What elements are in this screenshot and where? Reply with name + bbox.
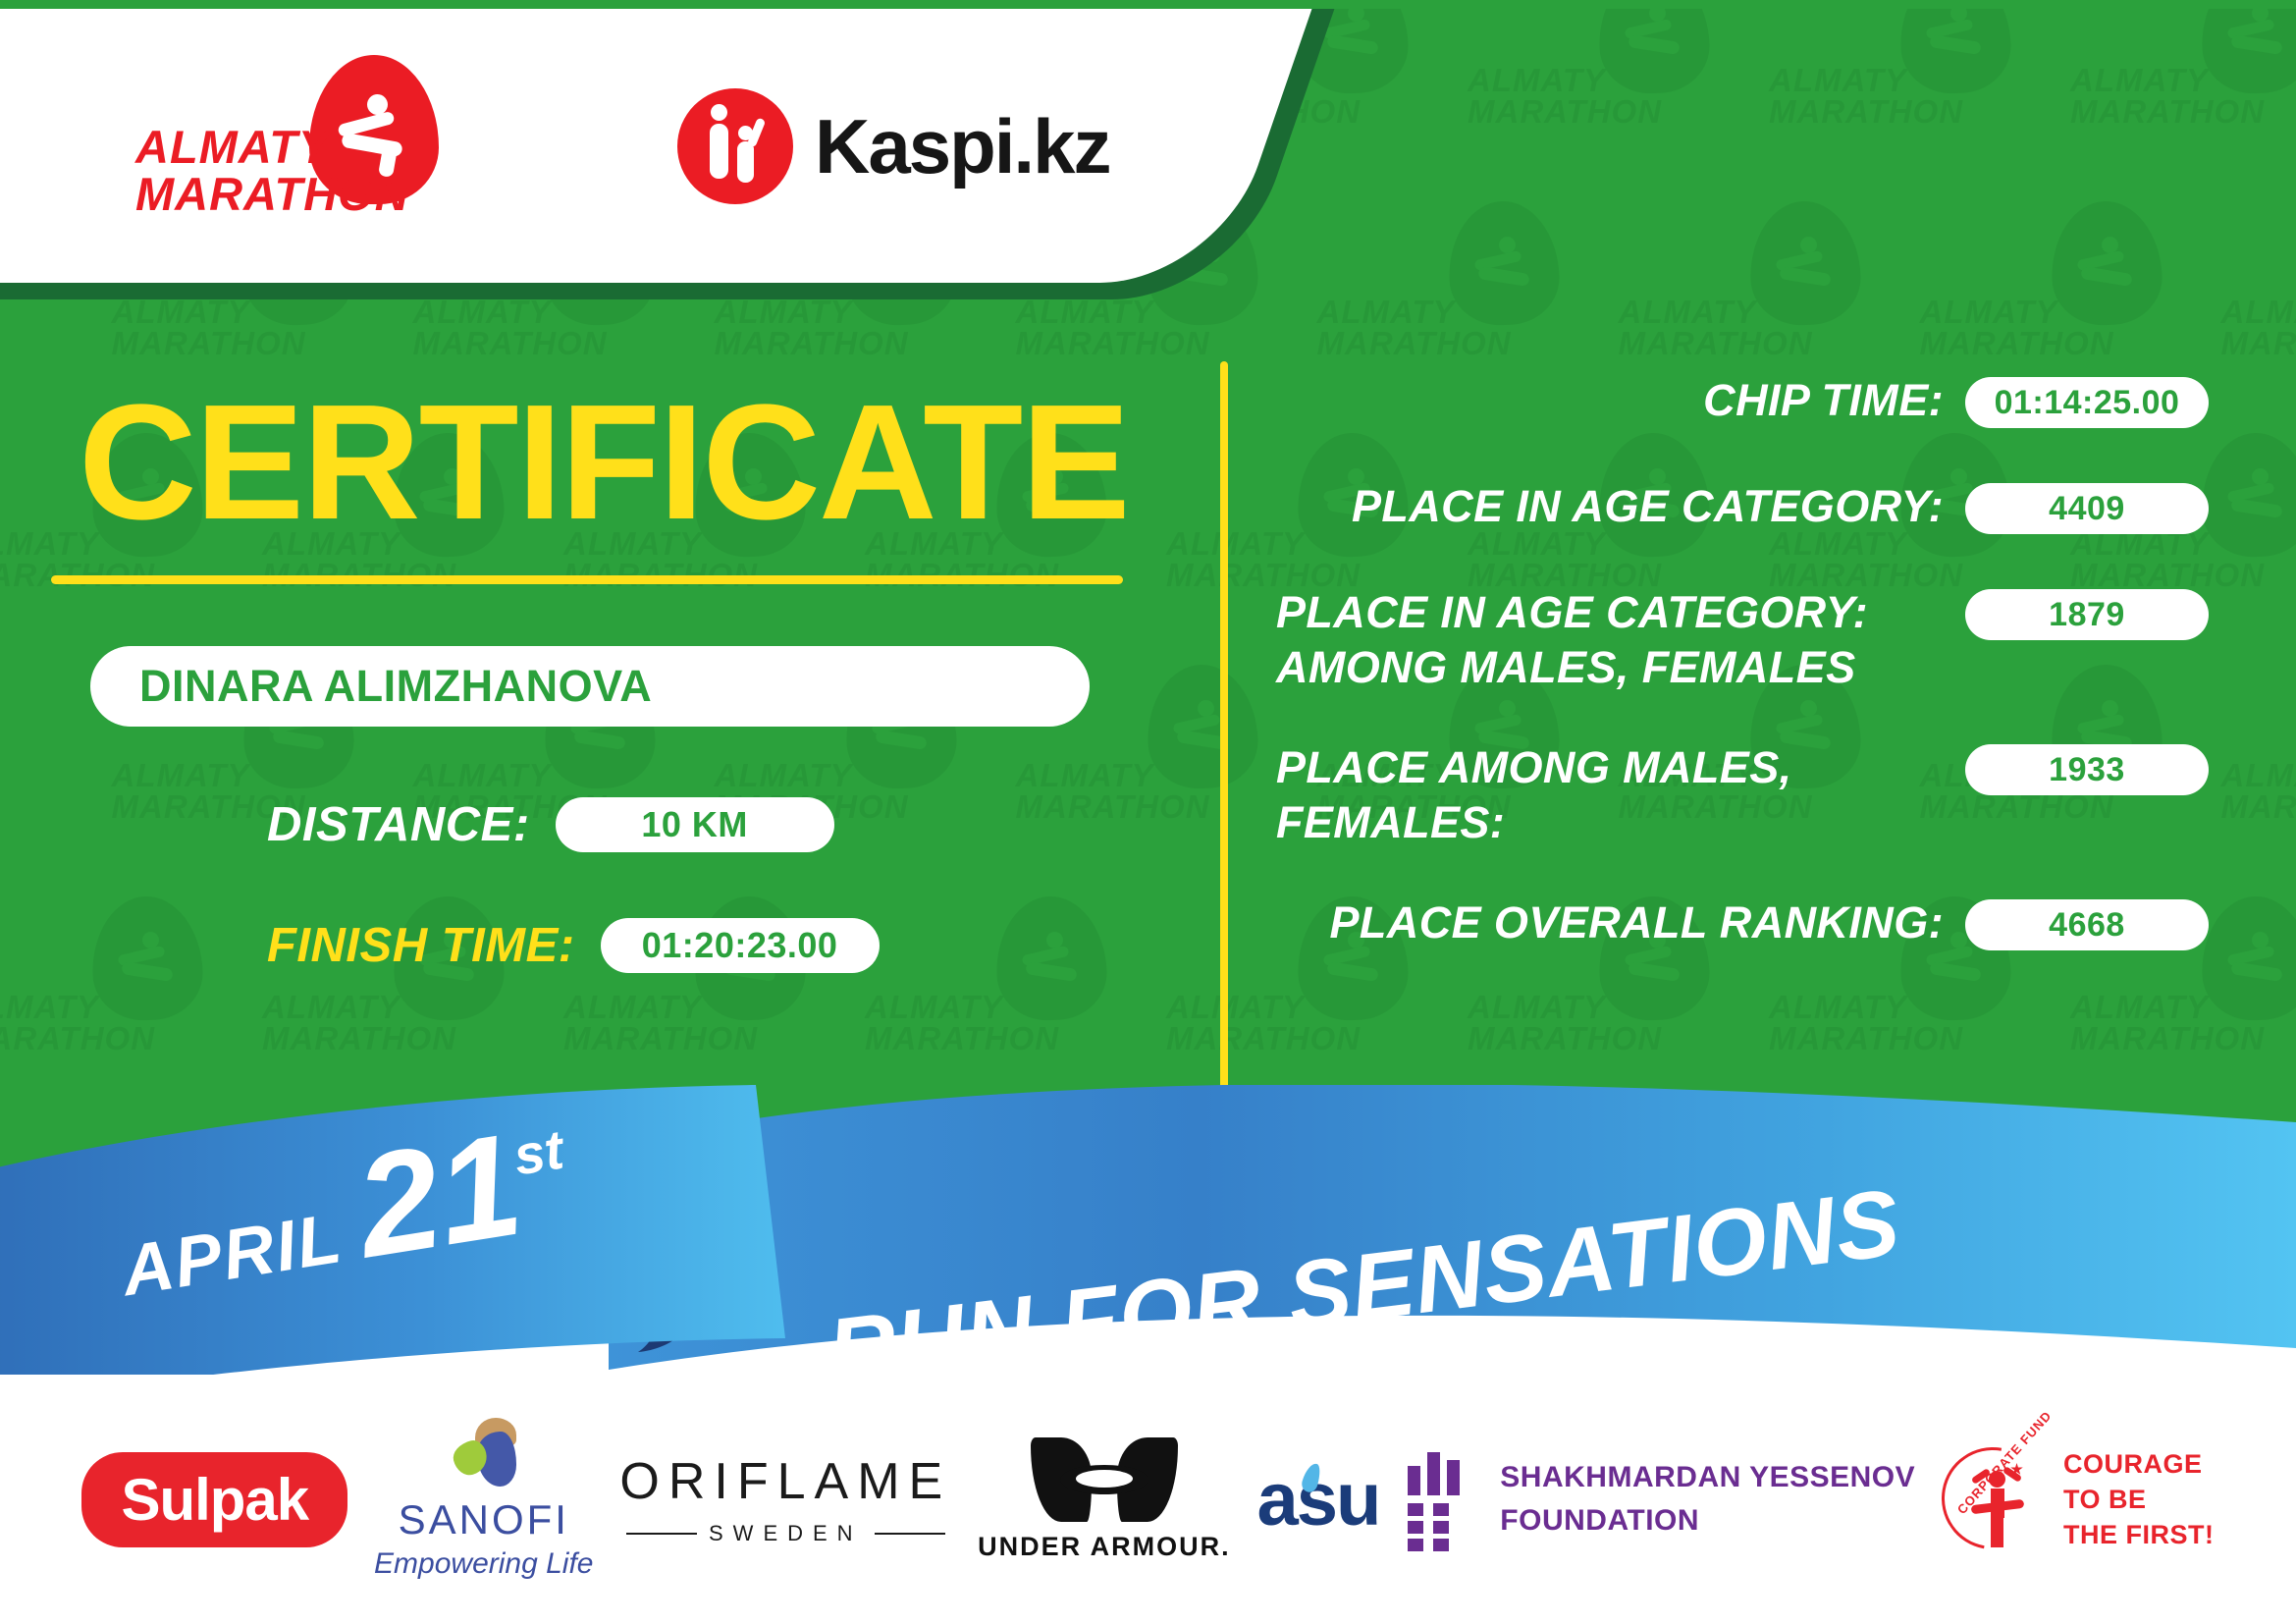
- stat-value: 1933: [2049, 751, 2125, 789]
- stat-row: PLACE AMONG MALES,FEMALES:1933: [1276, 740, 2209, 850]
- stat-row: PLACE IN AGE CATEGORY:4409: [1276, 479, 2209, 540]
- watermark-runner-icon: [2075, 241, 2140, 292]
- sponsor-corporate-fund: CORPORATE FUND COURAGE TO BE THE FIRST!: [1942, 1445, 2215, 1553]
- watermark-line2: MARATHON: [1619, 327, 1813, 360]
- stat-label-line1: PLACE AMONG MALES,: [1276, 740, 1944, 795]
- stat-value-pill: 4409: [1965, 483, 2209, 534]
- results-stats-list: CHIP TIME:01:14:25.00PLACE IN AGE CATEGO…: [1276, 373, 2209, 1001]
- watermark-runner-icon: [1924, 9, 1989, 60]
- distance-value-pill: 10 KM: [556, 797, 834, 852]
- stat-value-pill: 4668: [1965, 899, 2209, 950]
- watermark-line2: MARATHON: [2070, 95, 2265, 129]
- yessenov-line2: FOUNDATION: [1500, 1499, 1915, 1543]
- watermark-line2: MARATHON: [1920, 327, 2114, 360]
- oriflame-logo-text: ORIFLAME: [619, 1452, 951, 1511]
- sanofi-logo-text: SANOFI: [399, 1496, 569, 1543]
- watermark-runner-icon: [2225, 936, 2290, 987]
- watermark-runner-icon: [2225, 9, 2290, 60]
- distance-label: DISTANCE:: [267, 797, 530, 852]
- corporate-fund-logo-text: COURAGE TO BE THE FIRST!: [2063, 1446, 2215, 1552]
- watermark-tile: ALMATYMARATHON: [1317, 201, 1563, 388]
- watermark-runner-icon: [1472, 241, 1537, 292]
- stat-label-line2: FEMALES:: [1276, 795, 1944, 850]
- watermark-line1: ALMATY: [1619, 296, 1757, 329]
- stat-value: 1879: [2049, 596, 2125, 634]
- distance-value: 10 KM: [641, 804, 748, 845]
- oriflame-rule-left: [626, 1533, 697, 1535]
- corporate-fund-person-icon: CORPORATE FUND: [1942, 1445, 2050, 1553]
- event-day: 21: [348, 1118, 528, 1272]
- stat-row: PLACE OVERALL RANKING:4668: [1276, 895, 2209, 956]
- watermark-tile: ALMATYMARATHON: [2221, 665, 2296, 851]
- yessenov-logo-text: SHAKHMARDAN YESSENOV FOUNDATION: [1500, 1456, 1915, 1543]
- participant-name-field: DINARA ALIMZHANOVA: [90, 646, 1090, 727]
- sponsor-under-armour: UNDER ARMOUR.: [978, 1437, 1231, 1562]
- watermark-line2: MARATHON: [1769, 1022, 1963, 1056]
- corporate-fund-line3: THE FIRST!: [2063, 1517, 2215, 1552]
- sponsor-yessenov: SHAKHMARDAN YESSENOV FOUNDATION: [1406, 1452, 1915, 1546]
- watermark-line1: ALMATY: [2221, 759, 2296, 792]
- corporate-fund-wrap: CORPORATE FUND COURAGE TO BE THE FIRST!: [1942, 1445, 2215, 1553]
- vertical-divider: [1220, 361, 1228, 1093]
- watermark-runner-icon: [2225, 472, 2290, 523]
- watermark-runner-icon: [1774, 241, 1839, 292]
- watermark-line2: MARATHON: [1317, 327, 1512, 360]
- sponsor-oriflame: ORIFLAME SWEDEN: [619, 1452, 951, 1546]
- watermark-line2: MARATHON: [1468, 1022, 1662, 1056]
- watermark-runner-icon: [1623, 9, 1687, 60]
- event-ribbon: APRIL 21 st RUN FOR SENSATIONS: [0, 1085, 2296, 1389]
- watermark-tile: ALMATYMARATHON: [2070, 9, 2296, 156]
- stat-label: PLACE AMONG MALES,FEMALES:: [1276, 740, 1965, 850]
- watermark-tile: ALMATYMARATHON: [1619, 201, 1864, 388]
- yessenov-line1: SHAKHMARDAN YESSENOV: [1500, 1456, 1915, 1499]
- watermark-line2: MARATHON: [2070, 1022, 2265, 1056]
- stat-value-pill: 01:14:25.00: [1965, 377, 2209, 428]
- sponsor-strip: Sulpak SANOFI Empowering Life ORIFLAME S…: [0, 1375, 2296, 1624]
- stat-value-pill: 1879: [1965, 589, 2209, 640]
- watermark-tile: ALMATYMARATHON: [1769, 9, 2014, 156]
- under-armour-logo-text: UNDER ARMOUR.: [978, 1532, 1231, 1562]
- finish-time-label: FINISH TIME:: [267, 918, 575, 973]
- finish-time-value: 01:20:23.00: [642, 925, 838, 966]
- corporate-fund-line2: TO BE: [2063, 1482, 2215, 1517]
- top-accent-strip: [0, 0, 2296, 9]
- watermark-line1: ALMATY: [2221, 296, 2296, 329]
- stat-value-pill: 1933: [1965, 744, 2209, 795]
- stat-label-line1: PLACE IN AGE CATEGORY:: [1276, 585, 1944, 640]
- watermark-line1: ALMATY: [1920, 296, 2058, 329]
- watermark-line2: MARATHON: [2221, 327, 2296, 360]
- sponsor-asu: asu: [1256, 1457, 1379, 1543]
- stat-row: PLACE IN AGE CATEGORY:AMONG MALES, FEMAL…: [1276, 585, 2209, 695]
- finish-time-value-pill: 01:20:23.00: [601, 918, 880, 973]
- stat-label-line2: AMONG MALES, FEMALES: [1276, 640, 1944, 695]
- stat-value: 01:14:25.00: [1995, 384, 2180, 422]
- sponsor-sulpak: Sulpak: [81, 1452, 347, 1547]
- watermark-line2: MARATHON: [1769, 95, 1963, 129]
- watermark-tile: ALMATYMARATHON: [1468, 9, 1713, 156]
- watermark-line2: MARATHON: [1468, 95, 1662, 129]
- certificate-page: ALMATYMARATHONALMATYMARATHONALMATYMARATH…: [0, 0, 2296, 1624]
- oriflame-rule-right: [875, 1533, 945, 1535]
- watermark-tile: ALMATYMARATHON: [1920, 201, 2165, 388]
- stat-label: PLACE OVERALL RANKING:: [1276, 895, 1965, 950]
- sanofi-swirl-icon: [450, 1418, 518, 1489]
- watermark-tile: ALMATYMARATHON: [2221, 201, 2296, 388]
- watermark-line1: ALMATY: [2070, 64, 2209, 97]
- stat-value: 4409: [2049, 490, 2125, 528]
- corporate-fund-line1: COURAGE: [2063, 1446, 2215, 1482]
- stat-label: PLACE IN AGE CATEGORY:AMONG MALES, FEMAL…: [1276, 585, 1965, 695]
- certificate-title: CERTIFICATE: [79, 381, 1129, 545]
- stat-label: PLACE IN AGE CATEGORY:: [1276, 479, 1965, 534]
- title-underline: [51, 575, 1123, 584]
- oriflame-sub-text: SWEDEN: [709, 1521, 863, 1546]
- sanofi-tagline: Empowering Life: [374, 1547, 593, 1581]
- yessenov-bars-icon: [1406, 1452, 1476, 1546]
- participant-name: DINARA ALIMZHANOVA: [139, 661, 652, 712]
- watermark-line1: ALMATY: [1769, 64, 1907, 97]
- event-day-suffix: st: [509, 1117, 567, 1188]
- watermark-line1: ALMATY: [1468, 64, 1606, 97]
- under-armour-icon: [1031, 1437, 1178, 1522]
- stat-label: CHIP TIME:: [1276, 373, 1965, 428]
- watermark-line1: ALMATY: [1317, 296, 1456, 329]
- sulpak-logo-text: Sulpak: [81, 1452, 347, 1547]
- asu-logo-text: asu: [1256, 1457, 1379, 1543]
- distance-row: DISTANCE: 10 KM: [267, 797, 834, 852]
- stat-row: CHIP TIME:01:14:25.00: [1276, 373, 2209, 434]
- sponsor-sanofi: SANOFI Empowering Life: [374, 1418, 593, 1581]
- finish-time-row: FINISH TIME: 01:20:23.00: [267, 918, 880, 973]
- yessenov-wrap: SHAKHMARDAN YESSENOV FOUNDATION: [1406, 1452, 1915, 1546]
- stat-value: 4668: [2049, 906, 2125, 945]
- oriflame-sub-wrap: SWEDEN: [626, 1521, 945, 1546]
- watermark-line2: MARATHON: [2221, 790, 2296, 824]
